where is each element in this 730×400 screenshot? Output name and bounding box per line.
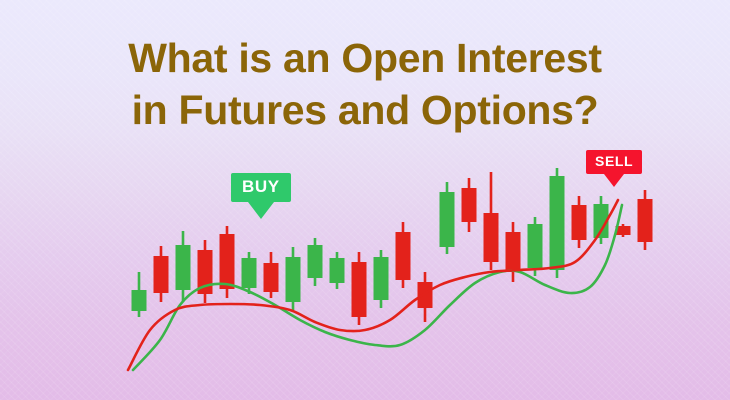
candle-body (308, 245, 323, 278)
candle-body (506, 232, 521, 272)
title-line-1: What is an Open Interest (0, 32, 730, 84)
candle-body (484, 213, 499, 262)
candle-body (220, 234, 235, 289)
page-title: What is an Open Interest in Futures and … (0, 32, 730, 136)
title-line-2: in Futures and Options? (0, 84, 730, 136)
candle-body (374, 257, 389, 300)
candle-body (286, 257, 301, 302)
candle-body (440, 192, 455, 247)
candle-body (638, 199, 653, 242)
candle-body (572, 205, 587, 240)
candle-body (176, 245, 191, 290)
buy-marker[interactable]: BUY (231, 173, 291, 202)
sell-marker-label: SELL (586, 150, 642, 174)
candle-body (154, 256, 169, 293)
candle-body (330, 258, 345, 283)
candle-body (418, 282, 433, 308)
candle-body (264, 263, 279, 292)
candle-body (462, 188, 477, 222)
candle-body (528, 224, 543, 268)
candle-body (132, 290, 147, 311)
buy-marker-label: BUY (231, 173, 291, 202)
candles-group (132, 168, 653, 325)
candle-body (550, 176, 565, 270)
sell-marker[interactable]: SELL (586, 150, 642, 174)
candle-body (352, 262, 367, 317)
banner-root: What is an Open Interest in Futures and … (0, 0, 730, 400)
candle-body (396, 232, 411, 280)
candle-body (242, 258, 257, 288)
